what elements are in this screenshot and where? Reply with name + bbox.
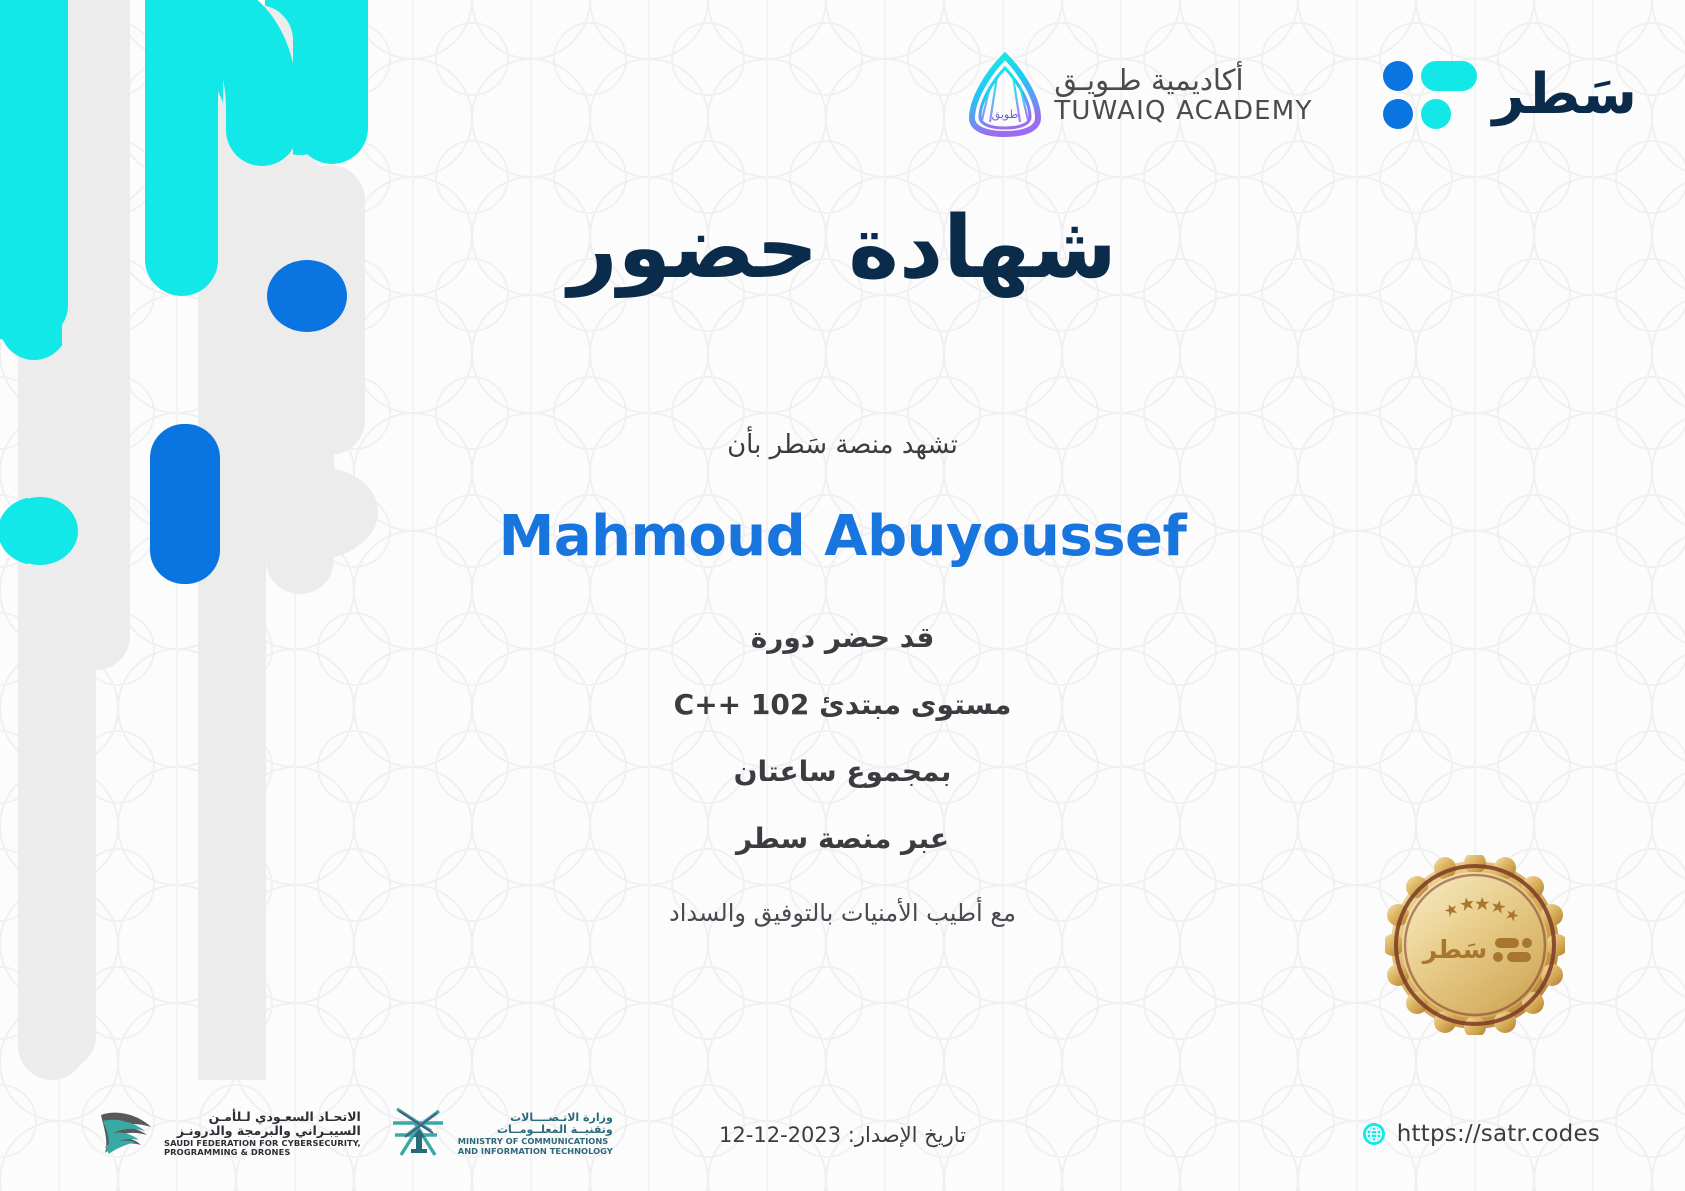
course-name: مستوى مبتدئ 102 ++C (0, 688, 1685, 721)
seal-wordmark: سَطر (1421, 935, 1488, 965)
gold-seal-badge: سَطر (1385, 855, 1565, 1035)
mcit-english-line2: AND INFORMATION TECHNOLOGY (458, 1147, 613, 1157)
tuwaiq-arabic-name: أكاديمية طـويـق (1054, 65, 1243, 96)
certificate-title: شهادة حضور (0, 198, 1685, 298)
satr-logo: سَطر (1383, 61, 1637, 129)
satr-dot-cyan (1421, 99, 1451, 129)
satr-pill-blue (1383, 99, 1413, 129)
attestation-line: تشهد منصة سَطر بأن (0, 430, 1685, 460)
tuwaiq-english-name: TUWAIQ ACADEMY (1054, 97, 1312, 125)
course-label: قد حضر دورة (0, 621, 1685, 654)
satr-pill-cyan (1421, 61, 1477, 91)
url-text: https://satr.codes (1397, 1121, 1600, 1147)
platform-line: عبر منصة سطر (0, 822, 1685, 855)
certificate-canvas: سَطر أكاديمية طـويـق TUWAIQ ACADEMY (0, 0, 1685, 1191)
saudi-federation-english-line2: PROGRAMMING & DRONES (164, 1148, 361, 1158)
tuwaiq-shield-icon: طويق (968, 52, 1042, 138)
tuwaiq-wordmark: أكاديمية طـويـق TUWAIQ ACADEMY (1054, 65, 1312, 124)
verification-url[interactable]: https://satr.codes (1362, 1121, 1600, 1147)
tuwaiq-logo: أكاديمية طـويـق TUWAIQ ACADEMY (968, 52, 1312, 138)
certificate-header: سَطر أكاديمية طـويـق TUWAIQ ACADEMY (968, 52, 1637, 138)
course-hours: بمجموع ساعتان (0, 755, 1685, 788)
satr-wordmark: سَطر (1493, 67, 1637, 123)
certificate-body: تشهد منصة سَطر بأن Mahmoud Abuyoussef قد… (0, 430, 1685, 927)
satr-logo-icon (1383, 61, 1477, 129)
recipient-name: Mahmoud Abuyoussef (0, 504, 1685, 569)
globe-icon (1362, 1122, 1386, 1146)
svg-text:طويق: طويق (992, 108, 1019, 122)
satr-dot-blue (1383, 61, 1413, 91)
